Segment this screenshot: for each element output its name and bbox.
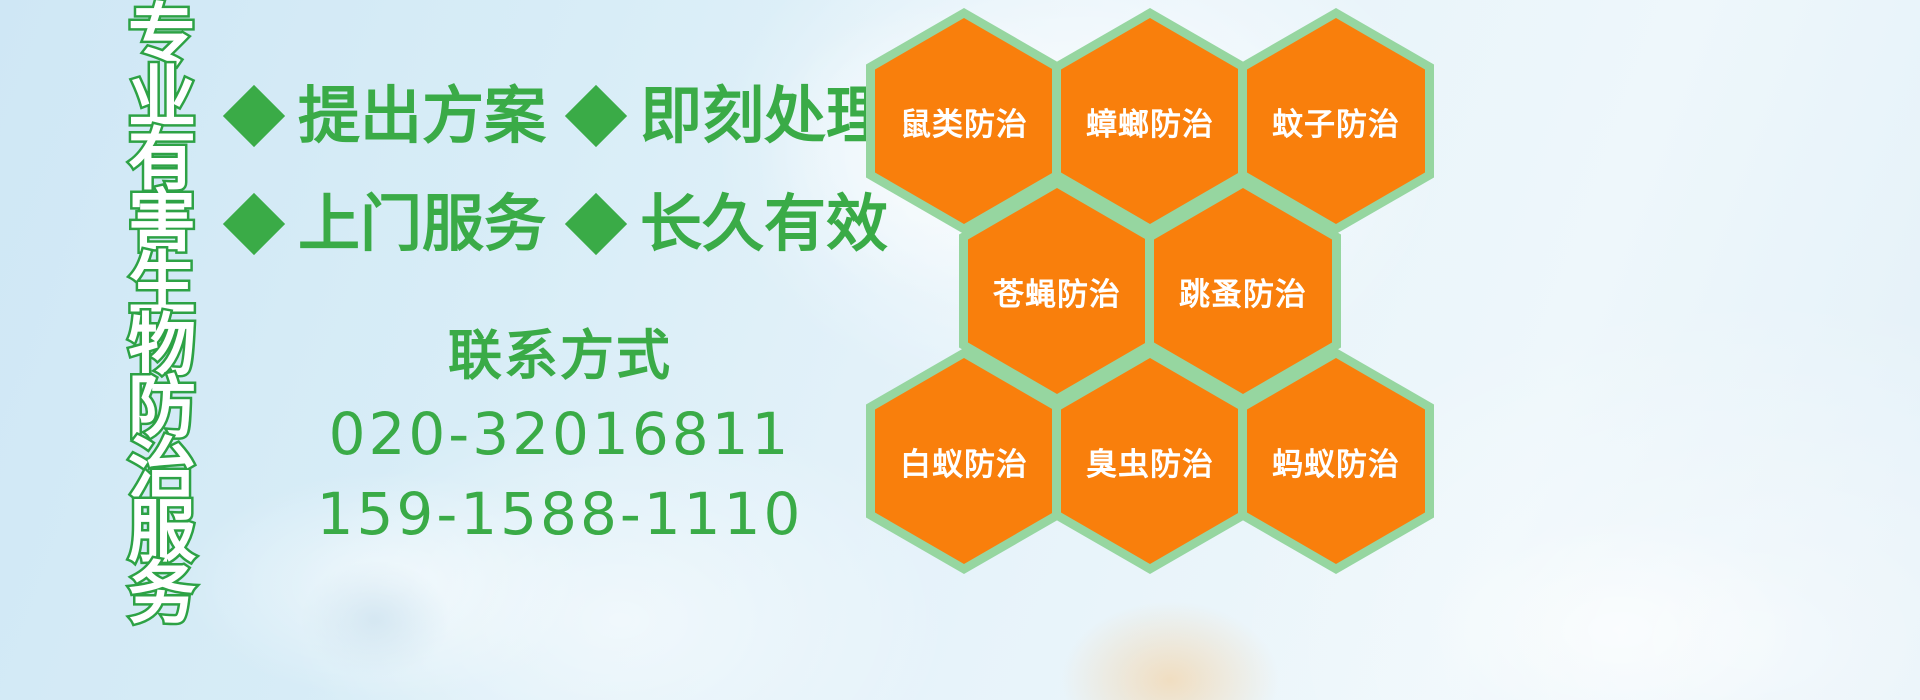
diamond-bullet-icon [223, 85, 285, 147]
service-hex-label: 跳蚤防治 [1179, 269, 1307, 314]
service-hex-label: 苍蝇防治 [993, 269, 1121, 314]
contact-phone-landline[interactable]: 020-32016811 [250, 394, 870, 474]
pest-control-banner: 专 业 有 害 生 物 防 治 服 务 提出方案 即刻处理 上门服务 长久有效 … [0, 0, 1920, 700]
feature-line-1: 提出方案 即刻处理 [232, 85, 888, 147]
feature-line-2: 上门服务 长久有效 [232, 193, 888, 255]
vertical-headline-char: 务 [128, 564, 196, 626]
service-hex-label: 蟑螂防治 [1086, 99, 1214, 144]
background-blur-3 [1060, 600, 1280, 700]
feature-label: 长久有效 [640, 193, 888, 255]
service-honeycomb: 鼠类防治 蟑螂防治 蚊子防治 苍蝇防治 跳蚤防治 白蚁防治 臭虫防治 [852, 0, 1472, 560]
service-hex-label: 蚂蚁防治 [1272, 439, 1400, 484]
contact-title: 联系方式 [250, 318, 870, 394]
background-blur-4 [1430, 520, 1810, 700]
feature-label: 提出方案 [298, 85, 546, 147]
service-hex-label: 白蚁防治 [900, 439, 1028, 484]
diamond-bullet-icon [565, 85, 627, 147]
service-hex-label: 蚊子防治 [1272, 99, 1400, 144]
service-hex-label: 鼠类防治 [900, 99, 1028, 144]
diamond-bullet-icon [223, 193, 285, 255]
contact-phone-mobile[interactable]: 159-1588-1110 [250, 474, 870, 554]
contact-block: 联系方式 020-32016811 159-1588-1110 [250, 318, 870, 554]
feature-label: 上门服务 [298, 193, 546, 255]
diamond-bullet-icon [565, 193, 627, 255]
service-hex-label: 臭虫防治 [1086, 439, 1214, 484]
background-blur-2 [300, 560, 450, 680]
vertical-headline: 专 业 有 害 生 物 防 治 服 务 [108, 6, 216, 566]
feature-label: 即刻处理 [640, 85, 888, 147]
